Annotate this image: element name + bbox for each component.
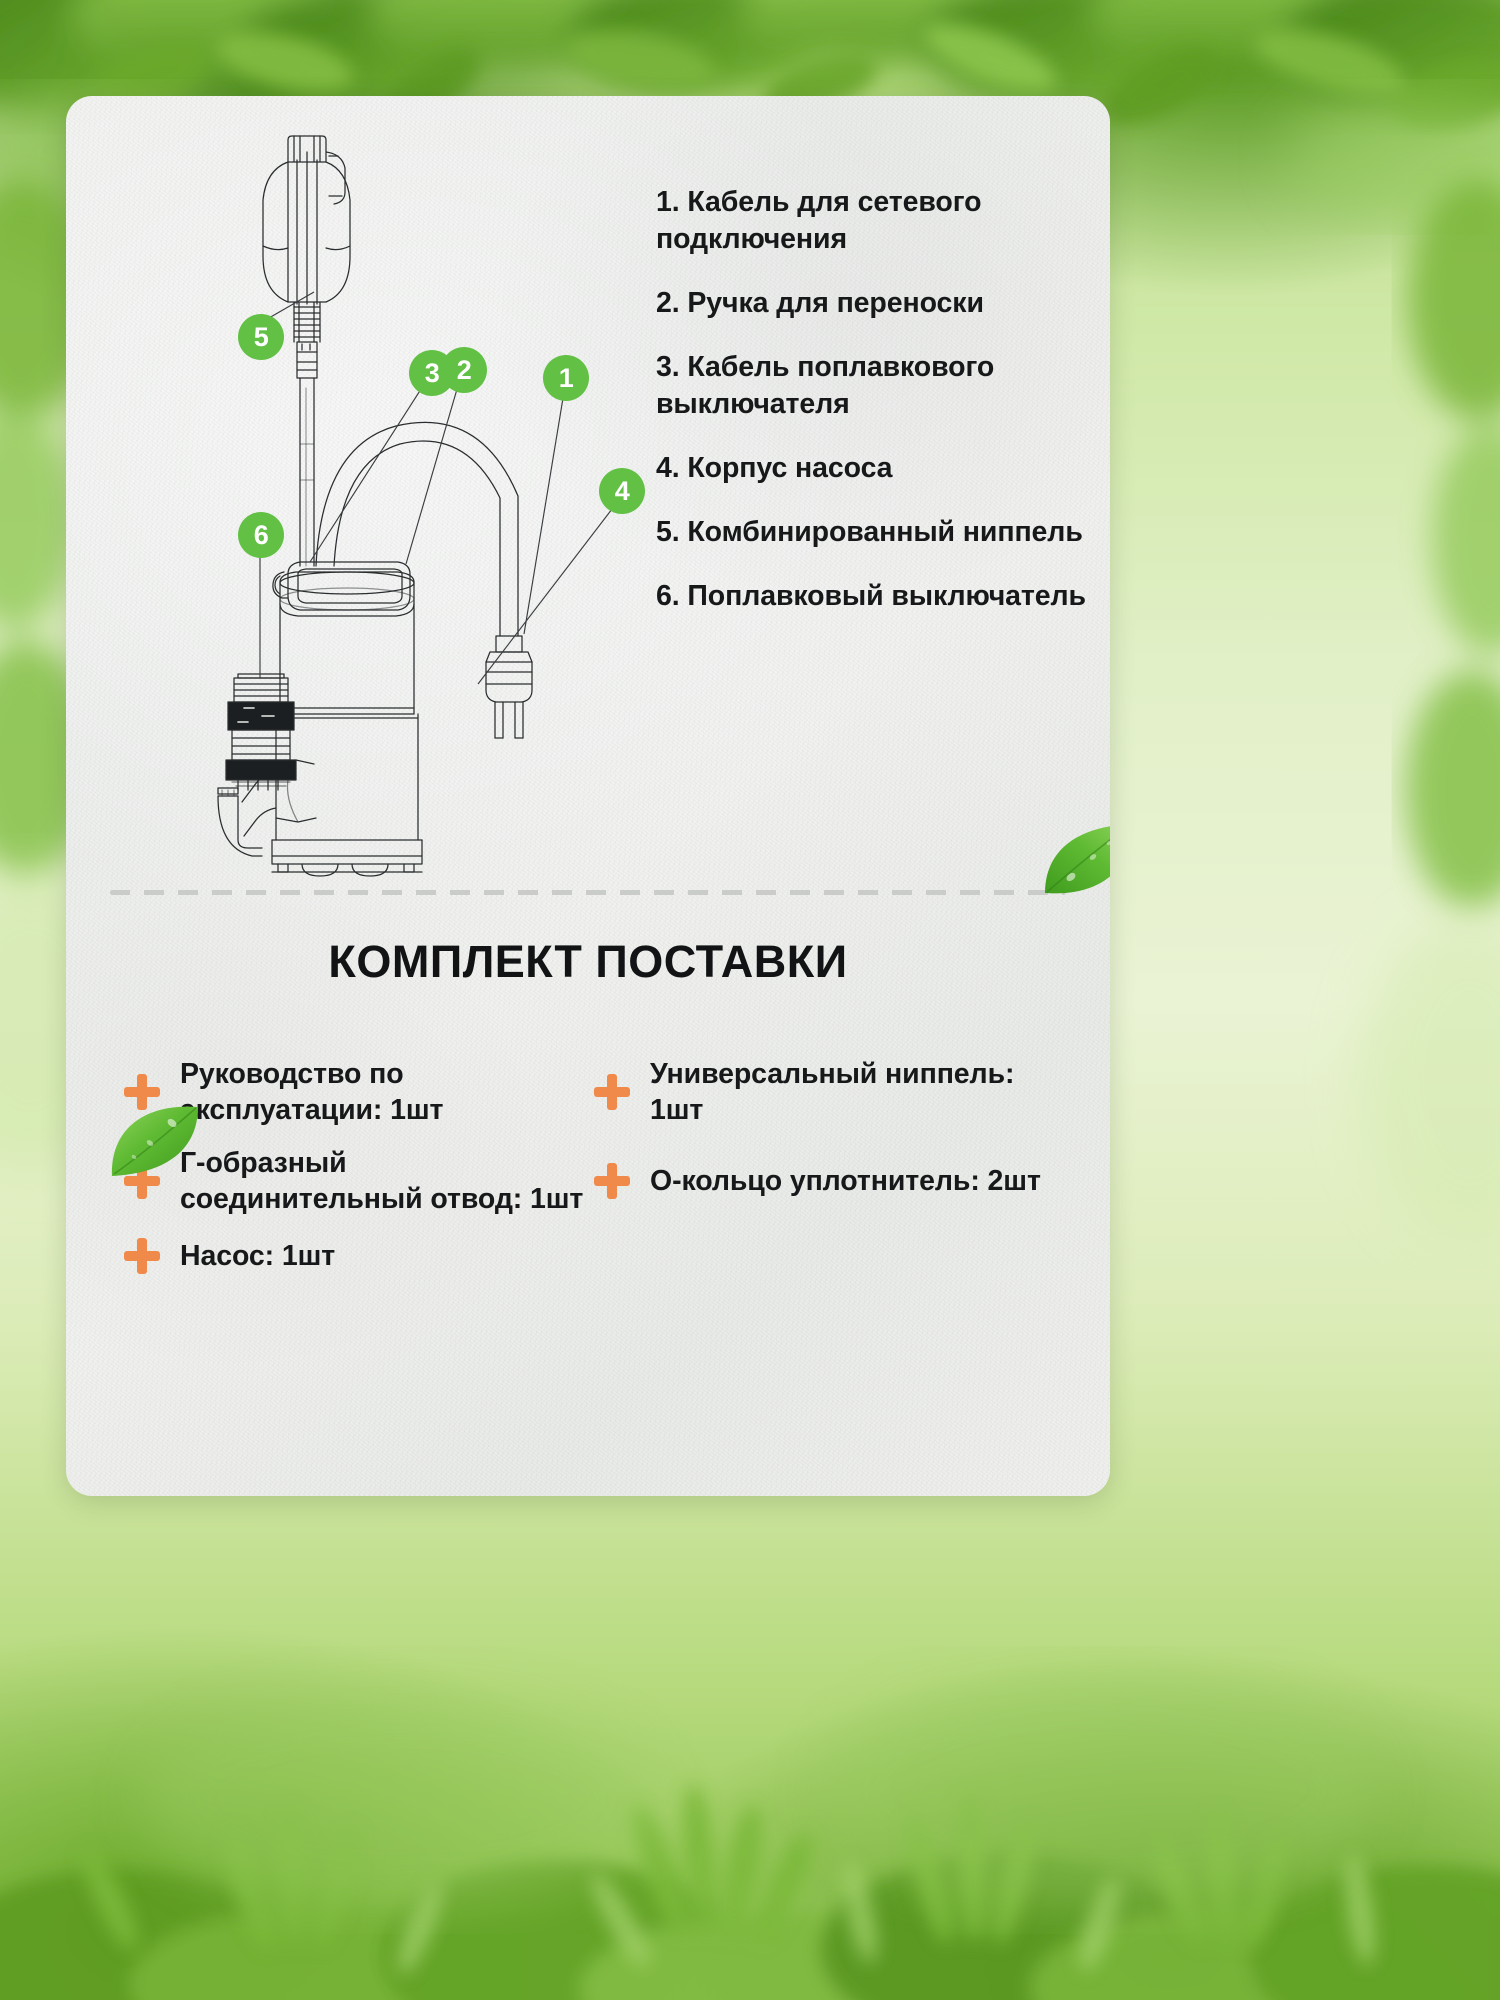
plus-icon [590,1159,634,1203]
kit-item-label: Универсальный ниппель: 1шт [650,1056,1060,1129]
kit-row: Руководство по эксплуатации: 1шт Универс… [120,1056,1060,1129]
callout-badge-2[interactable]: 2 [441,347,487,393]
kit-item-label: Г-образный соединительный отвод: 1шт [180,1145,590,1218]
leaf-icon [1041,821,1110,899]
pump-diagram: 5 3 2 1 4 6 [66,96,626,896]
pump-line-drawing [66,96,626,896]
content-card: 5 3 2 1 4 6 1. Кабель для сетевого подкл… [66,96,1110,1496]
kit-item-label: Руководство по эксплуатации: 1шт [180,1056,590,1129]
legend-item-4: 4. Корпус насоса [656,450,1086,487]
kit-item-label: О-кольцо уплотнитель: 2шт [650,1163,1041,1199]
callout-badge-6[interactable]: 6 [238,512,284,558]
legend-item-5: 5. Комбинированный ниппель [656,514,1086,551]
plus-icon [590,1070,634,1114]
callout-badge-4[interactable]: 4 [599,468,645,514]
kit-item-o-ring: О-кольцо уплотнитель: 2шт [590,1145,1060,1218]
kit-item-universal-nipple: Универсальный ниппель: 1шт [590,1056,1060,1129]
legend-item-3: 3. Кабель поплавкового выключателя [656,349,1086,423]
leaf-icon [106,1101,202,1179]
plus-icon [120,1234,164,1278]
callout-badge-5[interactable]: 5 [238,314,284,360]
kit-row: Г-образный соединительный отвод: 1шт О-к… [120,1145,1060,1218]
callout-badge-1[interactable]: 1 [543,355,589,401]
kit-section-title: КОМПЛЕКТ ПОСТАВКИ [66,936,1110,988]
legend-item-2: 2. Ручка для переноски [656,285,1086,322]
section-divider [110,890,1066,895]
legend-item-6: 6. Поплавковый выключатель [656,578,1086,615]
legend-list: 1. Кабель для сетевого подключения 2. Ру… [656,184,1086,615]
legend-item-1: 1. Кабель для сетевого подключения [656,184,1086,258]
kit-item-pump: Насос: 1шт [120,1234,590,1278]
kit-row: Насос: 1шт [120,1234,1060,1278]
kit-item-label: Насос: 1шт [180,1238,335,1274]
kit-list: Руководство по эксплуатации: 1шт Универс… [120,1056,1060,1294]
